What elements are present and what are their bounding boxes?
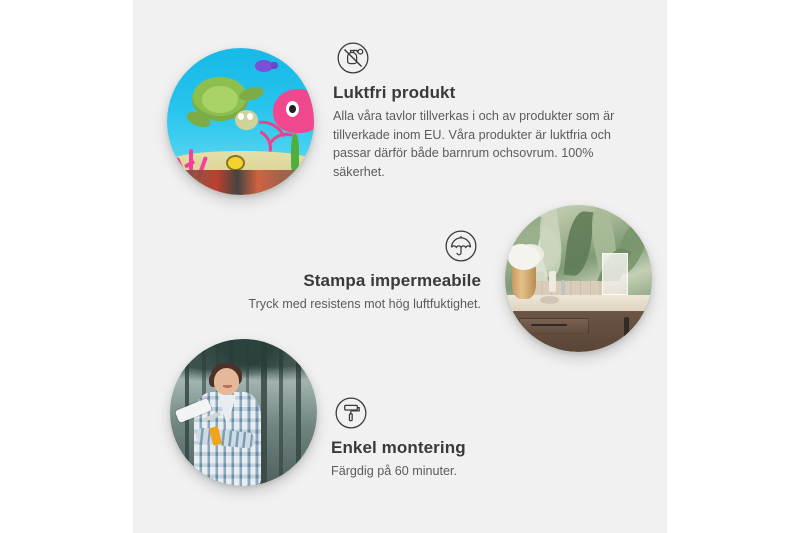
bathroom-wallpaper-image	[505, 205, 652, 352]
feature-waterproof: Stampa impermeabile Tryck med resistens …	[203, 228, 481, 314]
forest-mural-disc	[170, 339, 317, 486]
forest-canopy	[170, 339, 317, 389]
feature-title: Stampa impermeabile	[203, 271, 481, 291]
ocean-mural-disc	[167, 48, 314, 195]
feature-title: Luktfri produkt	[333, 83, 623, 103]
soap-dish	[540, 296, 559, 303]
content-panel: Luktfri produkt Alla våra tavlor tillver…	[133, 0, 667, 533]
drawer-handle	[531, 324, 568, 326]
bathroom-wallpaper-disc	[505, 205, 652, 352]
cabinet-drawer	[519, 318, 589, 334]
seaweed	[291, 133, 300, 171]
soap-bottle	[549, 271, 556, 292]
purple-fish	[255, 60, 273, 72]
white-flowers	[508, 245, 540, 270]
feature-odourless: Luktfri produkt Alla våra tavlor tillver…	[333, 40, 623, 181]
door-handle	[624, 317, 630, 340]
vanity-cabinet	[511, 311, 652, 352]
forest-mural-image	[170, 339, 317, 486]
product-feature-infographic: Luktfri produkt Alla våra tavlor tillver…	[0, 0, 800, 533]
room-strip	[167, 170, 314, 195]
feature-body: Färgdig på 60 minuter.	[331, 462, 591, 480]
person-face	[214, 368, 239, 394]
feature-body: Alla våra tavlor tillverkas i och av pro…	[333, 107, 623, 181]
feature-body: Tryck med resistens mot hög luftfuktighe…	[203, 295, 481, 313]
feature-title: Enkel montering	[331, 438, 591, 458]
feature-easy-install: Enkel montering Färgdig på 60 minuter.	[331, 395, 591, 481]
paint-roller-icon	[333, 395, 369, 431]
bathroom-mirror	[602, 253, 629, 295]
no-odour-spray-bottle-icon	[335, 40, 371, 76]
umbrella-icon	[443, 228, 479, 264]
ocean-mural-image	[167, 48, 314, 195]
